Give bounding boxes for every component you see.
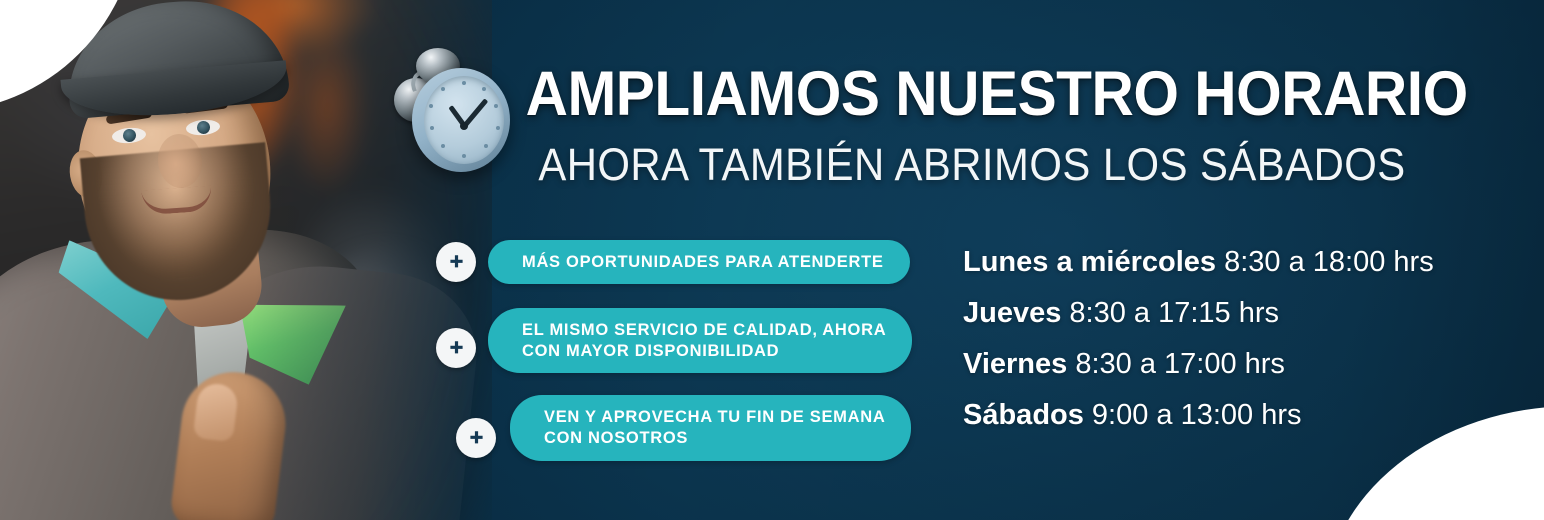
- schedule-list: Lunes a miércoles 8:30 a 18:00 hrs Jueve…: [963, 248, 1434, 430]
- benefit-badge-label: VEN Y APROVECHA TU FIN DE SEMANA CON NOS…: [510, 395, 911, 460]
- schedule-row: Jueves 8:30 a 17:15 hrs: [963, 299, 1434, 328]
- schedule-time: 8:30 a 17:00 hrs: [1067, 348, 1285, 380]
- benefit-badge[interactable]: EL MISMO SERVICIO DE CALIDAD, AHORA CON …: [436, 308, 936, 373]
- schedule-day: Sábados: [963, 399, 1084, 431]
- schedule-day: Viernes: [963, 348, 1067, 380]
- schedule-day: Lunes a miércoles: [963, 246, 1216, 278]
- schedule-time: 8:30 a 18:00 hrs: [1216, 246, 1434, 278]
- promo-banner: AMPLIAMOS NUESTRO HORARIO AHORA TAMBIÉN …: [0, 0, 1544, 520]
- benefit-badge[interactable]: VEN Y APROVECHA TU FIN DE SEMANA CON NOS…: [436, 395, 936, 460]
- schedule-time: 9:00 a 13:00 hrs: [1084, 399, 1302, 431]
- schedule-row: Lunes a miércoles 8:30 a 18:00 hrs: [963, 248, 1434, 277]
- benefit-badge-label: MÁS OPORTUNIDADES PARA ATENDERTE: [488, 240, 910, 285]
- schedule-row: Sábados 9:00 a 13:00 hrs: [963, 401, 1434, 430]
- benefit-badge-list: MÁS OPORTUNIDADES PARA ATENDERTE EL MISM…: [436, 238, 936, 461]
- plus-icon: [436, 242, 476, 282]
- clock-center-pin: [460, 122, 468, 130]
- schedule-row: Viernes 8:30 a 17:00 hrs: [963, 350, 1434, 379]
- schedule-time: 8:30 a 17:15 hrs: [1061, 297, 1279, 329]
- page-subtitle: AHORA TAMBIÉN ABRIMOS LOS SÁBADOS: [526, 142, 1419, 187]
- benefit-badge-label: EL MISMO SERVICIO DE CALIDAD, AHORA CON …: [488, 308, 912, 373]
- schedule-day: Jueves: [963, 297, 1061, 329]
- plus-icon: [456, 418, 496, 458]
- plus-icon: [436, 328, 476, 368]
- headline-block: AMPLIAMOS NUESTRO HORARIO AHORA TAMBIÉN …: [492, 62, 1452, 187]
- page-title: AMPLIAMOS NUESTRO HORARIO: [526, 62, 1419, 126]
- benefit-badge[interactable]: MÁS OPORTUNIDADES PARA ATENDERTE: [436, 238, 936, 286]
